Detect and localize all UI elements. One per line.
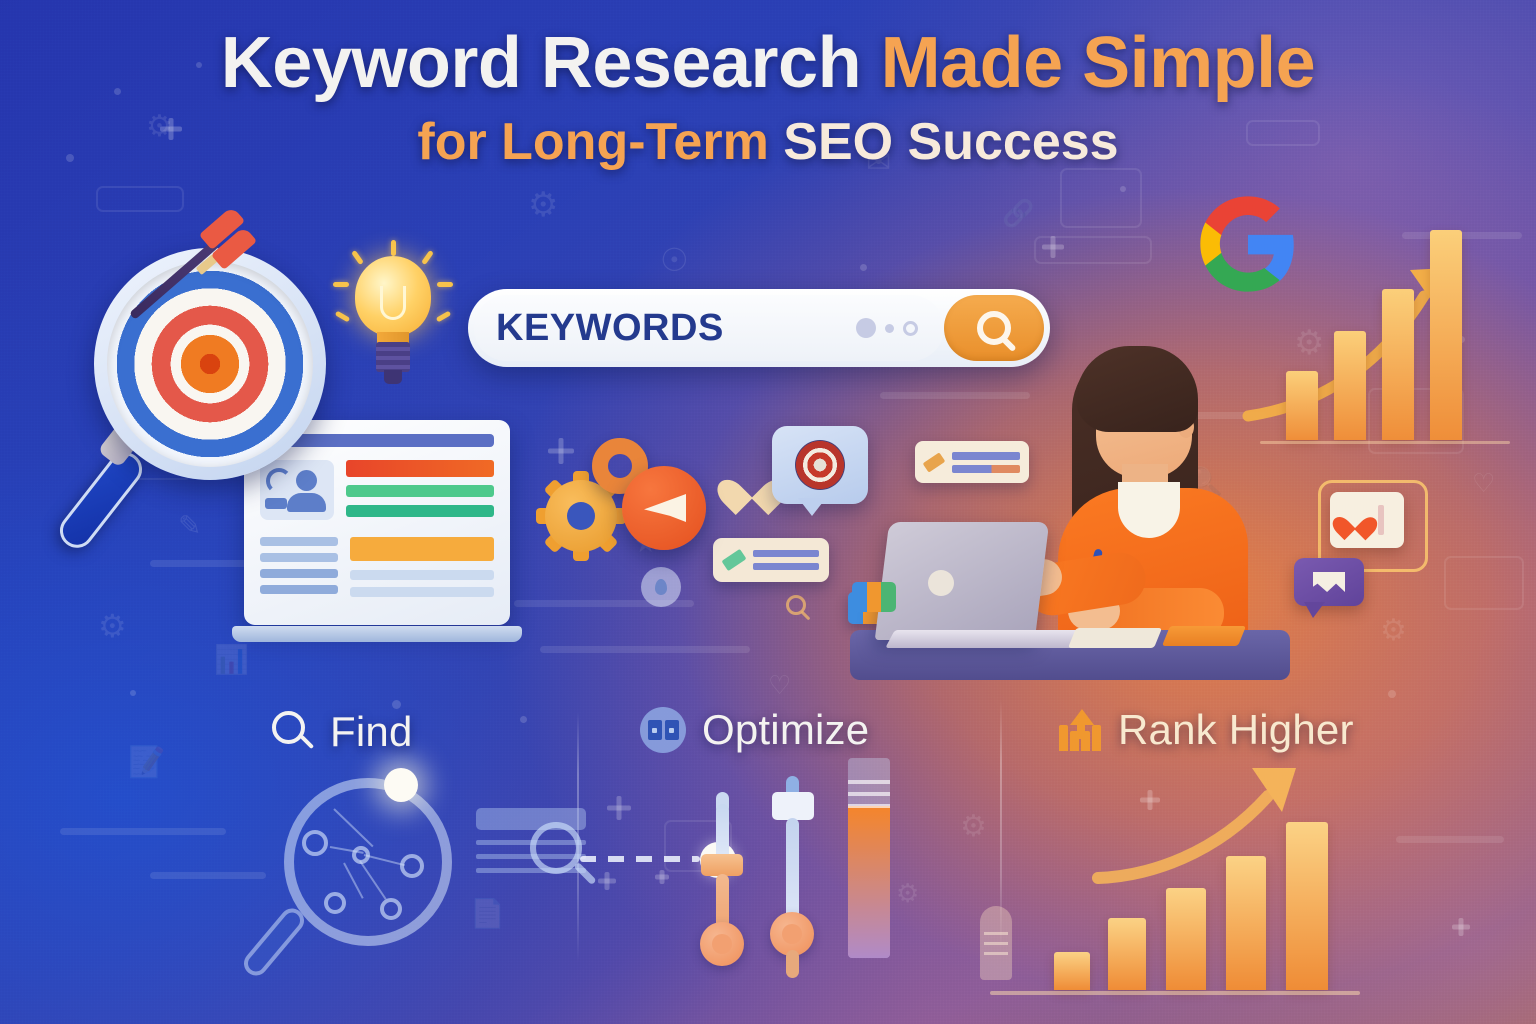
highlight-flare	[384, 768, 418, 802]
chart-bar	[1286, 371, 1318, 440]
heart-card-bar	[1378, 505, 1384, 535]
bulb-ray	[335, 311, 350, 323]
dart-arrow-icon	[122, 220, 254, 352]
card-color-bars	[346, 460, 494, 525]
google-g-logo	[1196, 192, 1300, 296]
laptop-base	[232, 626, 522, 642]
pill-line	[984, 952, 1008, 955]
bulb-ray	[333, 282, 349, 287]
search-input[interactable]: KEYWORDS	[474, 295, 944, 361]
rank-bar	[1092, 725, 1101, 751]
title-line2-part1: for Long-Term	[417, 113, 783, 171]
notebook	[1068, 628, 1162, 648]
chart-bar	[1054, 952, 1090, 990]
feature-find[interactable]: Find	[272, 708, 413, 756]
lightbulb-icon	[333, 248, 453, 398]
chart-bar	[1382, 289, 1414, 440]
feature-rank-higher-label: Rank Higher	[1118, 706, 1354, 754]
magnifier-stem	[300, 735, 314, 749]
feature-optimize-label: Optimize	[702, 706, 869, 754]
card-line	[260, 585, 338, 594]
search-loading-dots	[856, 318, 918, 338]
chart-bar	[1226, 856, 1266, 990]
pen-card-line	[753, 563, 819, 570]
meter-fill	[848, 806, 890, 958]
magnifier-ring	[284, 778, 452, 946]
chart-bar	[1166, 888, 1206, 990]
sticky-note	[1162, 626, 1246, 646]
search-button[interactable]	[944, 295, 1044, 361]
small-magnifier-icon	[786, 595, 818, 627]
chart-bar	[1334, 331, 1366, 440]
chart-bar	[1108, 918, 1146, 990]
heart-shape	[729, 464, 775, 506]
magnifier-handle	[239, 904, 309, 981]
title-line1-part2: Made Simple	[881, 23, 1316, 103]
bulb-base	[376, 342, 410, 372]
network-link	[333, 808, 373, 847]
laptop-logo	[928, 570, 954, 596]
pill-line	[984, 942, 1008, 945]
card-bar-green	[346, 485, 494, 497]
card-bar-teal	[346, 505, 494, 517]
title-line1-part1: Keyword Research	[221, 23, 881, 103]
slider-track	[786, 950, 799, 978]
rank-bar	[1081, 731, 1090, 751]
document-magnifier-icon	[476, 800, 596, 910]
cursor-pointer-icon	[622, 466, 706, 550]
meter-tick	[848, 780, 890, 784]
chart-bar	[1286, 822, 1328, 990]
water-drop-icon	[641, 567, 681, 607]
chart-baseline	[1260, 441, 1510, 444]
slider-band	[772, 792, 814, 820]
title-line-1: Keyword Research Made Simple	[0, 22, 1536, 104]
desk-color-tiles	[852, 582, 896, 612]
rank-bar	[1070, 731, 1079, 751]
rank-bar	[1059, 725, 1068, 751]
poster-canvas: ⚙ ⚙ ☉ ✉ 🔗 🔍 ⚙ ⚙ ⚙ ✎ 📝 📊 ★ ♡ ⚙ ♡ 📄 ⚙ Keyw…	[0, 0, 1536, 1024]
feature-rank-higher[interactable]: Rank Higher	[1058, 706, 1354, 754]
slider-track	[716, 804, 729, 860]
bulb-ray	[351, 250, 364, 265]
bottom-growth-chart	[1020, 800, 1360, 990]
feature-optimize[interactable]: Optimize	[640, 706, 869, 754]
pill-line	[984, 932, 1008, 935]
feature-find-label: Find	[330, 708, 413, 756]
slider-dot	[669, 728, 674, 733]
chart-bar	[1430, 230, 1462, 440]
speech-bubble-target-icon	[772, 426, 868, 518]
tile-green	[881, 582, 896, 612]
network-link	[343, 863, 364, 899]
card-line-pale	[350, 570, 494, 580]
sliders-panel-left	[648, 720, 662, 740]
laptop-lid	[875, 522, 1049, 640]
poster-title: Keyword Research Made Simple for Long-Te…	[0, 22, 1536, 172]
network-node	[324, 892, 346, 914]
purple-speech-bubble-icon	[1294, 558, 1364, 616]
pen-tag-icon	[713, 538, 829, 582]
meter-tick	[848, 804, 890, 808]
slider-thumb-inner	[712, 934, 732, 954]
search-dot-ring	[903, 321, 918, 336]
dart-shaft	[129, 240, 219, 320]
tile-blue	[852, 582, 867, 612]
magnifier-stem	[573, 862, 596, 885]
bubble-tail	[798, 498, 826, 516]
hair-front	[1076, 346, 1198, 432]
bulb-ray	[391, 240, 396, 256]
search-icon	[977, 311, 1011, 345]
title-line-2: for Long-Term SEO Success	[0, 112, 1536, 172]
cursor-glyph	[644, 494, 686, 522]
bulb-filament	[380, 286, 406, 320]
bulb-ray	[421, 250, 434, 265]
card-bar-red	[346, 460, 494, 477]
network-link	[364, 854, 405, 866]
google-g-svg	[1196, 192, 1300, 296]
card-line	[260, 569, 338, 578]
woman-at-laptop-illustration	[860, 330, 1290, 680]
gear-hole	[567, 502, 595, 530]
drop-glyph	[655, 579, 667, 595]
dashed-connector	[580, 856, 700, 862]
vertical-sliders-icon	[690, 770, 900, 970]
pen-glyph	[722, 549, 747, 571]
heart-icon	[729, 464, 775, 506]
tile-orange	[867, 582, 882, 612]
chart-baseline	[990, 991, 1360, 995]
bubble-target-rings	[795, 440, 845, 490]
pen-card-lines	[753, 550, 819, 570]
search-input-value: KEYWORDS	[496, 307, 724, 350]
bulb-ray	[437, 282, 453, 287]
bar-chart-up-icon	[1058, 709, 1102, 751]
slider-thumb-inner	[782, 924, 802, 944]
network-magnifier-icon	[262, 778, 462, 978]
magnifier-ring	[272, 711, 305, 744]
heart-card-icon	[1330, 492, 1404, 548]
slider-band	[701, 854, 743, 876]
bulb-tip	[384, 370, 402, 384]
title-line2-part2: SEO Success	[783, 113, 1118, 171]
card-amber-block	[350, 537, 494, 604]
bulb-ray	[436, 311, 451, 323]
bubble-flag-glyph	[1313, 572, 1345, 592]
slider-track	[786, 818, 799, 924]
level-meter-icon	[848, 758, 890, 958]
sliders-panel-right	[665, 720, 679, 740]
magnifier-target-illustration	[78, 248, 328, 558]
bubble-body	[772, 426, 868, 504]
bubble-body	[1294, 558, 1364, 606]
card-line-pale	[350, 587, 494, 597]
search-dot-large	[856, 318, 876, 338]
bubble-tail	[1304, 602, 1325, 618]
magnifier-handle	[53, 445, 149, 554]
heart-shape-red	[1340, 507, 1370, 534]
feature-labels-row: Find Optimize Rank Higher	[0, 700, 1536, 768]
search-bar[interactable]: KEYWORDS	[468, 289, 1050, 367]
pen-card-line	[753, 550, 819, 557]
network-link	[359, 860, 386, 899]
card-bar-amber	[350, 537, 494, 561]
meter-tick	[848, 792, 890, 796]
network-node	[302, 830, 328, 856]
slider-dot	[652, 728, 657, 733]
meter-pill	[980, 906, 1012, 980]
network-node	[380, 898, 402, 920]
sliders-icon	[640, 707, 686, 753]
search-dot-small	[885, 324, 894, 333]
small-magnifier-glass	[786, 595, 806, 615]
magnifier-icon	[272, 711, 314, 753]
slider-thumb	[700, 922, 744, 966]
